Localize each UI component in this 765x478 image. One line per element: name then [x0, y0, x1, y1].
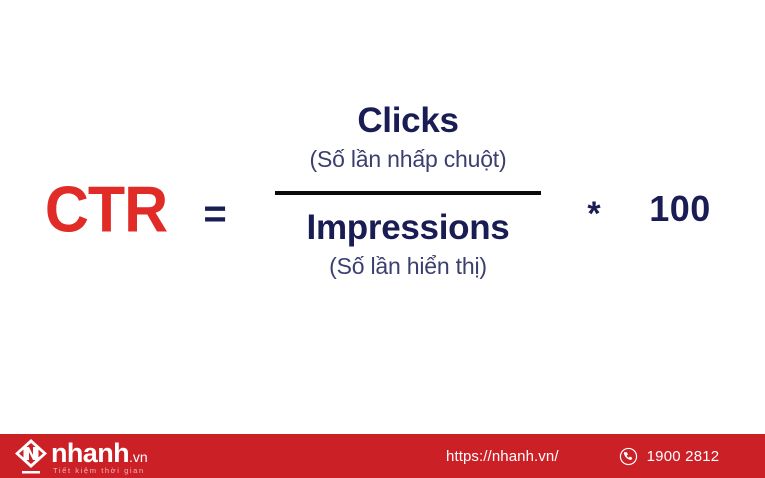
fraction-block: Clicks (Số lần nhấp chuột) Impressions (… [258, 100, 558, 283]
brand-logo[interactable]: nhanh .vn Tiết kiệm thời gian [14, 437, 148, 477]
hundred-multiplier: 100 [630, 185, 730, 233]
brand-tld: .vn [129, 449, 148, 465]
numerator-sublabel: (Số lần nhấp chuột) [258, 142, 558, 176]
brand-name: nhanh [51, 439, 129, 467]
footer-contact-group: https://nhanh.vn/ 1900 2812 [446, 434, 719, 478]
brand-tagline: Tiết kiệm thời gian [53, 466, 148, 476]
phone-number: 1900 2812 [647, 448, 720, 465]
denominator-sublabel: (Số lần hiển thị) [258, 249, 558, 283]
fraction-bar [275, 191, 541, 195]
nhanh-diamond-logo-icon [14, 438, 48, 476]
ctr-formula-region: CTR = Clicks (Số lần nhấp chuột) Impress… [0, 0, 765, 434]
website-url[interactable]: https://nhanh.vn/ [446, 448, 559, 465]
multiply-sign: * [572, 190, 616, 238]
equals-sign: = [193, 190, 237, 238]
brand-word-row: nhanh .vn [51, 439, 148, 467]
phone-group[interactable]: 1900 2812 [619, 447, 720, 466]
fraction-denominator: Impressions (Số lần hiển thị) [258, 207, 558, 283]
phone-circle-icon [619, 447, 638, 466]
fraction-numerator: Clicks (Số lần nhấp chuột) [258, 100, 558, 178]
numerator-label: Clicks [258, 100, 558, 142]
ctr-label: CTR [30, 176, 182, 242]
footer-bar: nhanh .vn Tiết kiệm thời gian https://nh… [0, 434, 765, 478]
brand-text: nhanh .vn Tiết kiệm thời gian [51, 439, 148, 476]
denominator-label: Impressions [258, 207, 558, 249]
infographic-page: CTR = Clicks (Số lần nhấp chuột) Impress… [0, 0, 765, 478]
